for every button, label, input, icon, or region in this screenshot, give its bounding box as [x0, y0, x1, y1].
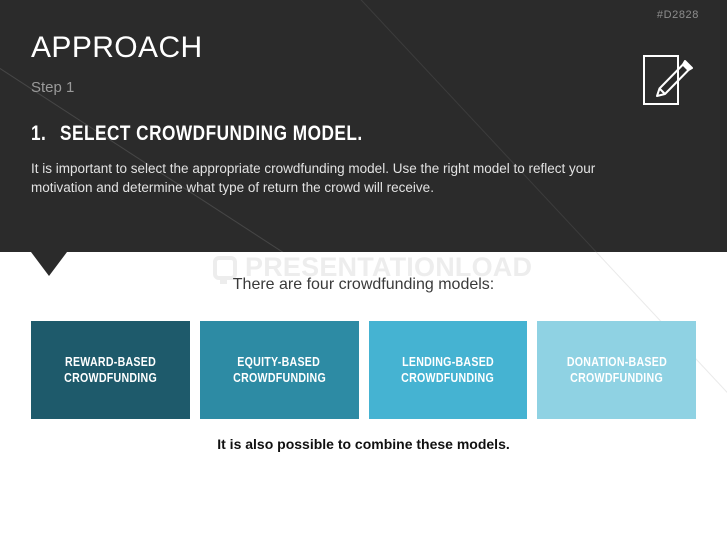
model-box-label-line1: DONATION-BASED: [567, 354, 667, 370]
closing-line: It is also possible to combine these mod…: [0, 436, 727, 452]
step-number: 1.: [31, 122, 46, 146]
model-box-label-line1: REWARD-BASED: [65, 354, 156, 370]
page-with-pencil-icon: [643, 50, 697, 106]
slide-canvas: #D2828 APPROACH Step 1 1. SELECT CROWDFU…: [0, 0, 727, 545]
model-box-equity-based[interactable]: EQUITY-BASED CROWDFUNDING: [200, 321, 359, 419]
model-box-label-line2: CROWDFUNDING: [64, 370, 157, 386]
model-box-label-line2: CROWDFUNDING: [570, 370, 663, 386]
model-box-lending-based[interactable]: LENDING-BASED CROWDFUNDING: [369, 321, 528, 419]
slide-code-label: #D2828: [657, 9, 699, 21]
model-box-label-line2: CROWDFUNDING: [401, 370, 494, 386]
model-box-label-line1: EQUITY-BASED: [238, 354, 321, 370]
intro-line: There are four crowdfunding models:: [0, 276, 727, 294]
model-box-label-line1: LENDING-BASED: [402, 354, 494, 370]
step-title: SELECT CROWDFUNDING MODEL.: [60, 122, 363, 146]
model-box-label-line2: CROWDFUNDING: [233, 370, 326, 386]
step-heading: 1. SELECT CROWDFUNDING MODEL.: [31, 122, 429, 146]
step-body-text: It is important to select the appropriat…: [31, 159, 655, 197]
page-subtitle: Step 1: [31, 78, 74, 97]
header-band: #D2828 APPROACH Step 1 1. SELECT CROWDFU…: [0, 0, 727, 252]
page-title: APPROACH: [31, 31, 203, 65]
model-box-reward-based[interactable]: REWARD-BASED CROWDFUNDING: [31, 321, 190, 419]
model-box-row: REWARD-BASED CROWDFUNDING EQUITY-BASED C…: [31, 321, 696, 419]
model-box-donation-based[interactable]: DONATION-BASED CROWDFUNDING: [537, 321, 696, 419]
header-notch-triangle: [31, 252, 67, 276]
